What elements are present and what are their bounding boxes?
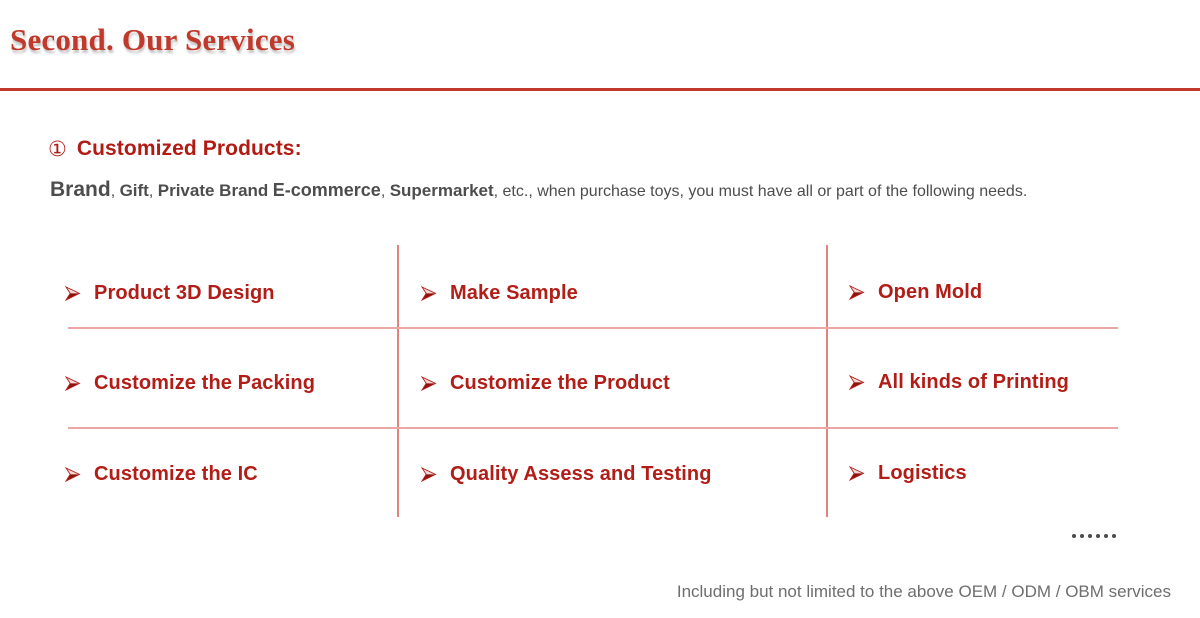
service-label: Open Mold [878,281,982,304]
service-label: Customize the Packing [94,372,315,395]
arrow-bullet-icon [64,285,81,302]
intro-segment: Private Brand [158,181,269,200]
ellipsis-dots [1072,534,1116,538]
services-grid: Product 3D Design Make Sample Open Mold … [0,0,1200,618]
intro-segment: E-commerce [273,180,381,200]
arrow-bullet-icon [848,465,865,482]
arrow-bullet-icon [64,466,81,483]
arrow-bullet-icon [848,284,865,301]
service-item[interactable]: Product 3D Design [64,282,275,305]
page-title: Second. Our Services [10,22,295,58]
service-label: All kinds of Printing [878,371,1069,394]
ellipsis-dot [1072,534,1076,538]
grid-horizontal-divider-2 [68,427,1118,429]
intro-segment: , [111,183,120,200]
service-label: Product 3D Design [94,282,275,305]
intro-segment: Brand [50,178,111,201]
slide-header: Second. Our Services Second. Our Service… [0,0,1200,92]
arrow-bullet-icon [64,375,81,392]
service-label: Customize the IC [94,463,258,486]
service-item[interactable]: Quality Assess and Testing [420,463,712,486]
arrow-bullet-icon [420,375,437,392]
arrow-bullet-icon [848,374,865,391]
intro-segment: , [149,183,158,200]
service-item[interactable]: Customize the Product [420,372,670,395]
intro-segment: Gift [120,181,149,200]
circled-number-1-icon: ① [48,139,67,160]
arrow-bullet-icon [420,285,437,302]
section-heading-label: Customized Products: [77,137,302,161]
service-item[interactable]: Logistics [848,462,967,485]
service-item[interactable]: Open Mold [848,281,982,304]
ellipsis-dot [1080,534,1084,538]
ellipsis-dot [1104,534,1108,538]
grid-horizontal-divider-1 [68,327,1118,329]
ellipsis-dot [1096,534,1100,538]
header-divider-rule [0,88,1200,91]
intro-segment: , etc., when purchase toys, you must hav… [494,183,1028,200]
intro-segment: Supermarket [390,181,494,200]
service-item[interactable]: Make Sample [420,282,578,305]
grid-vertical-divider-2 [826,245,828,517]
service-item[interactable]: Customize the Packing [64,372,315,395]
grid-vertical-divider-1 [397,245,399,517]
service-label: Customize the Product [450,372,670,395]
service-label: Logistics [878,462,967,485]
service-item[interactable]: All kinds of Printing [848,371,1069,394]
arrow-bullet-icon [420,466,437,483]
section-heading: ① Customized Products: [48,137,302,161]
ellipsis-dot [1088,534,1092,538]
intro-paragraph: Brand, Gift, Private Brand E-commerce, S… [50,179,1160,200]
service-item[interactable]: Customize the IC [64,463,258,486]
intro-segment: , [381,183,390,200]
ellipsis-dot [1112,534,1116,538]
service-label: Quality Assess and Testing [450,463,712,486]
service-label: Make Sample [450,282,578,305]
footer-note: Including but not limited to the above O… [677,582,1171,602]
